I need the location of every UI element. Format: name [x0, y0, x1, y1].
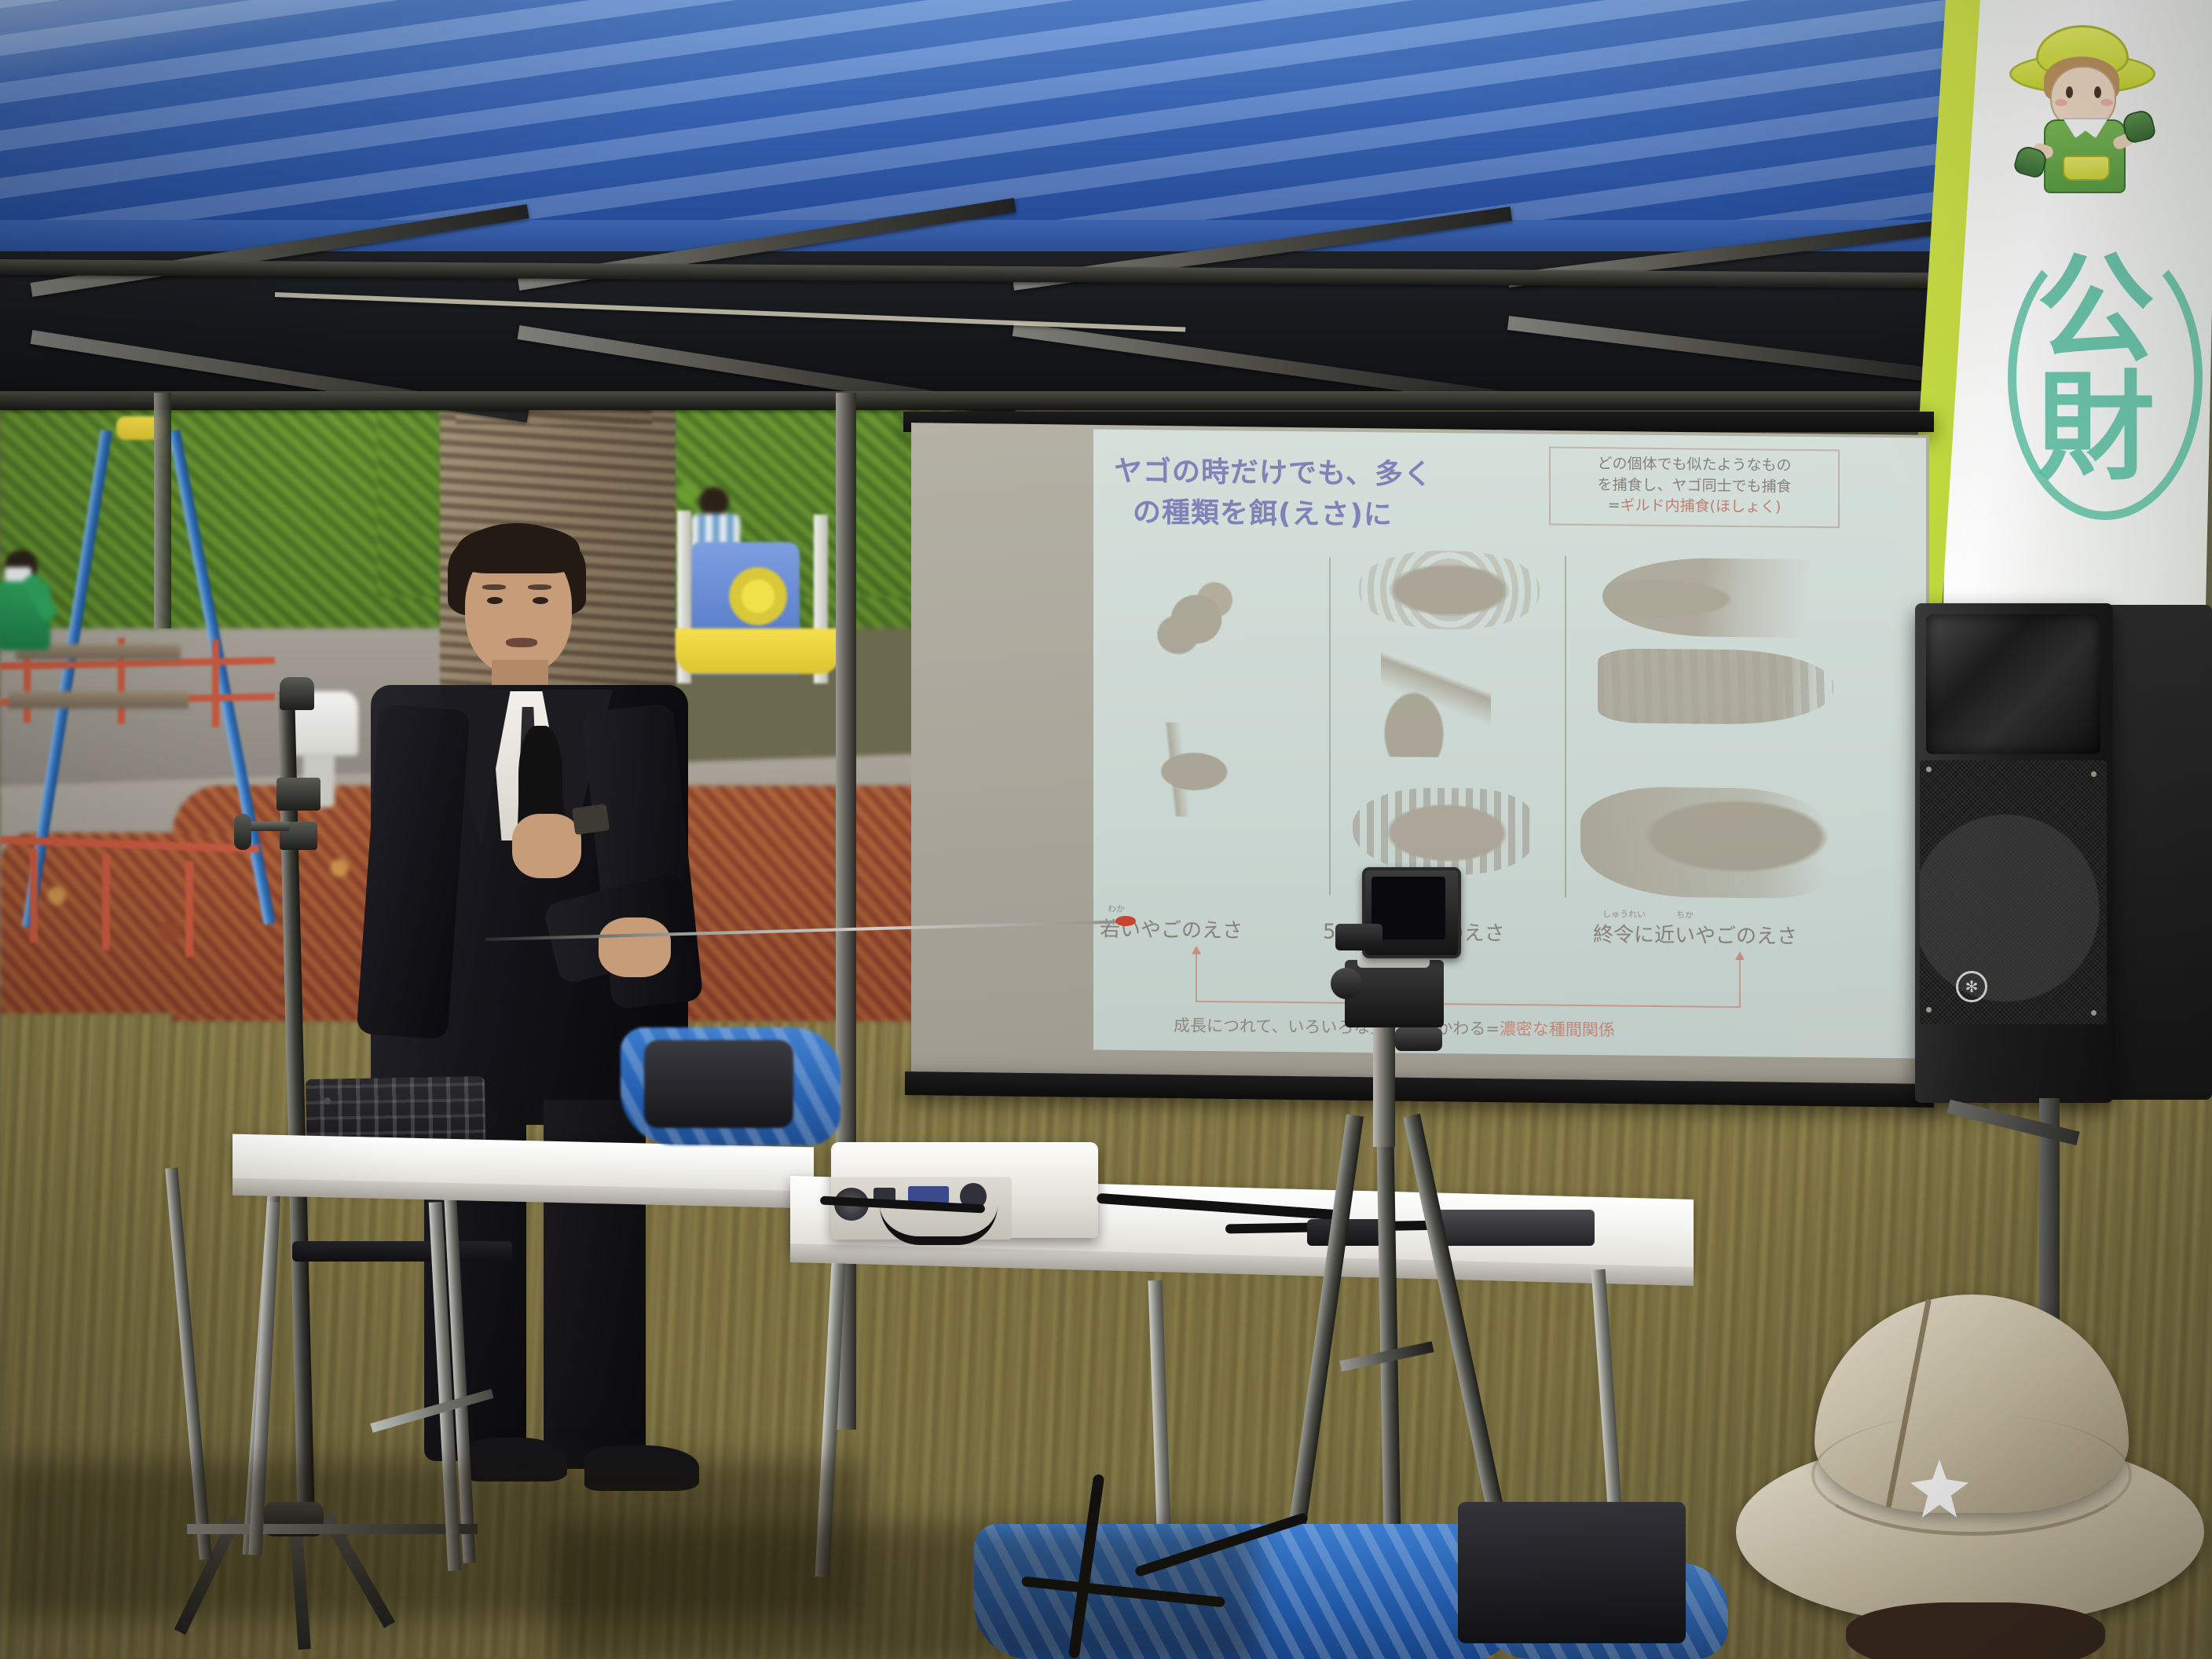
fence-post-d [30, 848, 38, 943]
fence-post-c [212, 639, 219, 727]
organism-copepod [1108, 722, 1257, 818]
mascot-eye-left [2066, 86, 2073, 98]
tripod-pan-knob [1395, 1027, 1442, 1051]
organism-daphnia [1145, 569, 1247, 668]
slide-column-divider-2 [1565, 556, 1566, 898]
child-head-2 [699, 487, 729, 517]
tripod-head [1345, 960, 1444, 1027]
slide-column-divider-1 [1329, 558, 1331, 895]
control-device-on-table [1430, 1210, 1595, 1246]
mic-stand-boom-knob [234, 814, 251, 850]
mascot-cheek-right [2100, 99, 2113, 106]
pa-screw-br [2091, 1010, 2097, 1016]
presenter-brow-left [482, 584, 506, 590]
gear-bag-dark [644, 1040, 793, 1128]
pointer-red-tip [1115, 916, 1136, 926]
slide-title-line1: ヤゴの時だけでも、多く [1114, 453, 1433, 495]
yamaha-logo-icon: ✻ [1956, 971, 1987, 1002]
slide-callout-box: どの個体でも似たようなもの を捕食し、ヤゴ同士でも捕食 =ギルド内捕食(ほしょく… [1549, 447, 1840, 529]
fence-post-e [102, 855, 110, 950]
organism-small-fish [1598, 648, 1833, 725]
slide-growth-bracket [1196, 954, 1741, 1008]
action-camera-mount [1335, 924, 1382, 950]
tent-crossbeam [0, 391, 1948, 410]
pa-speaker-horn [1926, 614, 2100, 754]
slide-title-line2: の種類を餌(えさ)に [1133, 494, 1393, 535]
tent-leg-left [154, 393, 171, 628]
pa-speaker-side-panel [2100, 605, 2212, 1100]
organism-large-aquatic-insect [1580, 786, 1832, 899]
organism-tubifex-cluster [1359, 550, 1540, 630]
presenter-hand-mic [512, 814, 581, 878]
pa-speaker-grill [1920, 760, 2107, 1024]
playground-wheel [729, 567, 787, 625]
presenter-fringe [457, 525, 580, 573]
presenter-hand-pointer [599, 917, 671, 977]
banner-circle-mark [2008, 236, 2203, 520]
slide-caption-right: 終令に近いやごのえさ [1593, 918, 1797, 950]
playground-yellow-slide [676, 628, 840, 674]
slide-footer-plain: 成長につれて、いろいろな生物とかかわる= [1174, 1016, 1500, 1038]
mascot-pocket [2063, 156, 2110, 181]
callout-line-2: を捕食し、ヤゴ同士でも捕食 [1557, 474, 1832, 497]
mascot-cheek-left [2055, 99, 2067, 106]
mic-stand-top-adapter [280, 677, 314, 710]
organism-tadpole [1602, 557, 1822, 638]
tripod-center-column [1373, 1013, 1395, 1147]
audience-hair [1846, 1602, 2105, 1659]
presenter-brow-right [528, 584, 551, 590]
park-bench-seat [8, 691, 189, 709]
mic-stand-clamp-upper [276, 778, 320, 811]
mascot-eye-right [2094, 86, 2101, 98]
action-camera-screen [1372, 877, 1445, 939]
slide-footer-highlight: 濃密な種間関係 [1500, 1020, 1615, 1040]
callout-line-3: =ギルド内捕食(ほしょく) [1557, 495, 1832, 518]
tent-canopy [0, 0, 1979, 236]
pa-screw-tl [1926, 767, 1932, 772]
organism-amphipod [1381, 627, 1491, 757]
callout-highlight: ギルド内捕食(ほしょく) [1621, 497, 1782, 516]
fence-post-f [185, 861, 193, 957]
photograph-scene: 公 財 ヤゴの時だけでも、多く の種類を餌(えさ)に どの個体でも似たようなもの… [0, 0, 2212, 1659]
presenter-eye-right [533, 597, 548, 604]
tripod-tilt-lever [1331, 968, 1362, 999]
projected-slide: ヤゴの時だけでも、多く の種類を餌(えさ)に どの個体でも似たようなもの を捕食… [1093, 429, 1926, 1058]
presenter-wristwatch [572, 804, 610, 835]
presenter-eye-left [487, 597, 503, 604]
folding-chair-seat [292, 1241, 512, 1262]
equipment-case-on-ground [1458, 1502, 1686, 1643]
ground-shadow-center [550, 1524, 1257, 1659]
organism-chironomid-larva [1353, 787, 1533, 875]
presenter-mouth [506, 638, 537, 647]
callout-line-1: どの個体でも似たようなもの [1557, 453, 1832, 477]
pa-screw-bl [1926, 1007, 1932, 1013]
audience-hat-band [1811, 1414, 2132, 1536]
callout-equals: = [1608, 496, 1621, 514]
banner-mascot [1995, 8, 2199, 259]
pa-screw-tr [2091, 771, 2097, 777]
